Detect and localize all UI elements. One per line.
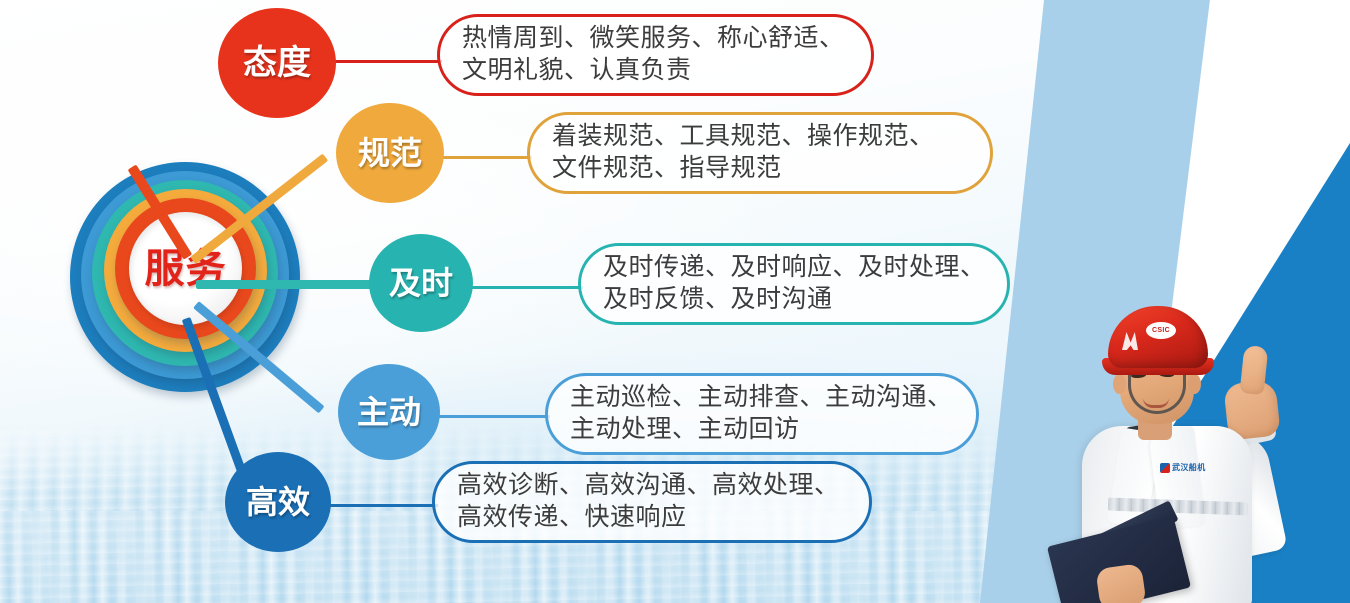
node-attitude-label: 态度 xyxy=(243,46,311,80)
lead-line-attitude xyxy=(334,60,442,63)
company-mark-icon xyxy=(1160,463,1170,473)
poster-canvas: 服务 态度 规范 及时 主动 高效 热情周到、微笑服务、称心舒适、 文明礼貌、认… xyxy=(0,0,1350,603)
bubble-attitude[interactable]: 热情周到、微笑服务、称心舒适、 文明礼貌、认真负责 xyxy=(437,14,874,96)
uniform-logo-text: 武汉船机 xyxy=(1172,462,1206,473)
lead-line-proactive xyxy=(437,415,550,418)
bubble-efficient-text: 高效诊断、高效沟通、高效处理、 高效传递、快速响应 xyxy=(457,469,840,534)
lead-line-standard xyxy=(440,156,532,159)
bubble-standard-text: 着装规范、工具规范、操作规范、 文件规范、指导规范 xyxy=(552,120,935,185)
node-standard-label: 规范 xyxy=(358,137,422,169)
bubble-efficient[interactable]: 高效诊断、高效沟通、高效处理、 高效传递、快速响应 xyxy=(432,461,872,543)
node-proactive-label: 主动 xyxy=(357,396,421,428)
worker-photo: 武汉船机 CSIC xyxy=(1042,278,1302,603)
node-attitude[interactable]: 态度 xyxy=(218,8,336,118)
lead-line-timely xyxy=(470,286,583,289)
bubble-standard[interactable]: 着装规范、工具规范、操作规范、 文件规范、指导规范 xyxy=(527,112,993,194)
node-proactive[interactable]: 主动 xyxy=(338,364,440,460)
spoke-timely xyxy=(196,280,378,289)
bubble-proactive[interactable]: 主动巡检、主动排查、主动沟通、 主动处理、主动回访 xyxy=(545,373,979,455)
node-efficient-label: 高效 xyxy=(246,486,310,518)
node-standard[interactable]: 规范 xyxy=(336,103,444,203)
bubble-proactive-text: 主动巡检、主动排查、主动沟通、 主动处理、主动回访 xyxy=(570,381,953,446)
helmet-logo: CSIC xyxy=(1146,322,1176,339)
thumbs-up-icon xyxy=(1240,345,1269,395)
node-efficient[interactable]: 高效 xyxy=(225,452,331,552)
bubble-timely-text: 及时传递、及时响应、及时处理、 及时反馈、及时沟通 xyxy=(603,251,986,316)
bubble-timely[interactable]: 及时传递、及时响应、及时处理、 及时反馈、及时沟通 xyxy=(578,243,1010,325)
worker-ear-left xyxy=(1113,374,1126,394)
lead-line-efficient xyxy=(328,504,438,507)
uniform-logo: 武汉船机 xyxy=(1160,462,1206,473)
node-timely[interactable]: 及时 xyxy=(369,234,473,332)
bubble-attitude-text: 热情周到、微笑服务、称心舒适、 文明礼貌、认真负责 xyxy=(462,22,845,87)
helmet-logo-text: CSIC xyxy=(1152,327,1170,334)
worker-ear-right xyxy=(1188,374,1201,394)
node-timely-label: 及时 xyxy=(389,267,453,299)
worker-hand-holding-clipboard xyxy=(1095,563,1146,603)
